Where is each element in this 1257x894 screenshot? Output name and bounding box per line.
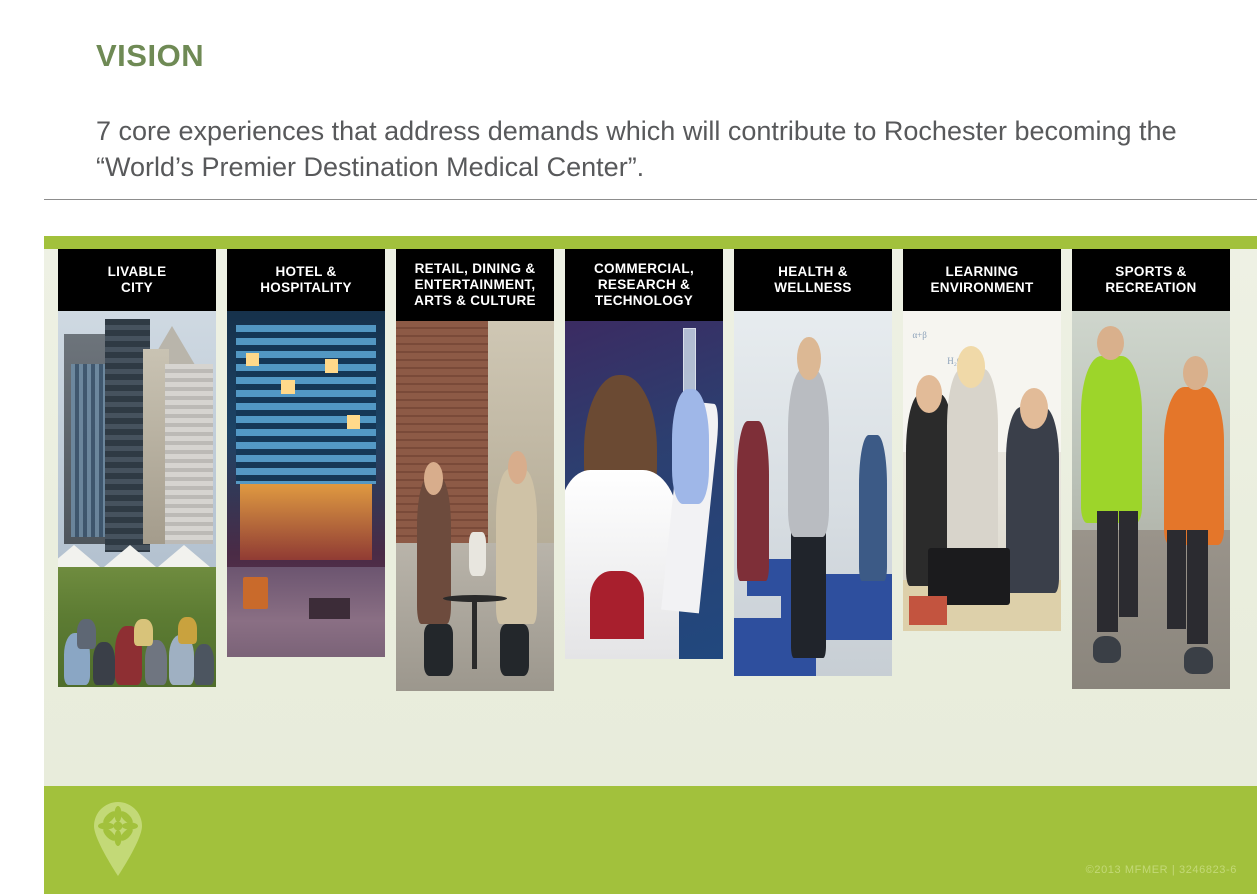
window-light [281,380,295,394]
column-photo-learning-environment: α+β H₂O [903,311,1061,631]
column-header-line2: ENTERTAINMENT, [414,277,536,293]
person-head [797,337,821,381]
running-shoe [1093,636,1121,662]
runner-head [1183,356,1208,390]
column-header-line1: HEALTH & [774,264,851,280]
column-header-livable-city: LIVABLE CITY [58,249,216,311]
tent-shape [158,545,210,567]
slide-subtitle: 7 core experiences that address demands … [96,113,1221,185]
column-photo-commercial-research [565,321,723,659]
person-shape [145,640,167,685]
person-shape [496,469,537,624]
marquee-glow [240,484,373,560]
footer-bar: ©2013 MFMER | 3246823-6 [44,786,1257,894]
column-header-line1: SPORTS & [1105,264,1196,280]
experience-column-learning-environment[interactable]: LEARNING ENVIRONMENT α+β H₂O [903,249,1061,631]
street-furniture [243,577,268,608]
column-header-learning-environment: LEARNING ENVIRONMENT [903,249,1061,311]
running-shoe [1184,647,1212,673]
copyright-credit: ©2013 MFMER | 3246823-6 [1086,864,1237,876]
column-photo-health-wellness [734,311,892,676]
person-shape [1006,407,1060,593]
person-shape [947,369,998,574]
whiteboard-scribble: α+β [912,330,926,340]
person-head [957,346,985,388]
page-title: VISION [96,38,204,74]
column-header-line1: COMMERCIAL, [594,261,694,277]
building-shape [165,364,212,544]
column-header-line3: ARTS & CULTURE [414,293,536,309]
column-photo-retail-dining [396,321,554,691]
column-header-line2: WELLNESS [774,280,851,296]
chair-shape [500,624,528,676]
column-photo-livable-city [58,311,216,687]
experiences-panel: LIVABLE CITY [44,236,1257,786]
column-header-health-wellness: HEALTH & WELLNESS [734,249,892,311]
column-header-line1: RETAIL, DINING & [414,261,536,277]
column-header-line2: CITY [108,280,167,296]
book [909,596,947,625]
window-light [325,359,338,373]
person-shape [859,435,887,581]
blue-glove [672,389,708,504]
person-shape [178,617,197,644]
experience-column-health-wellness[interactable]: HEALTH & WELLNESS [734,249,892,676]
column-header-line3: TECHNOLOGY [594,293,694,309]
column-header-line2: RECREATION [1105,280,1196,296]
runner-shape [1164,387,1224,546]
experience-column-retail-dining[interactable]: RETAIL, DINING & ENTERTAINMENT, ARTS & C… [396,249,554,691]
column-header-line1: LIVABLE [108,264,167,280]
column-header-commercial-research: COMMERCIAL, RESEARCH & TECHNOLOGY [565,249,723,321]
column-photo-hotel-hospitality [227,311,385,657]
tent-row [58,529,216,567]
tent-shape [104,545,156,567]
column-header-line1: LEARNING [930,264,1033,280]
person-shape [134,619,153,646]
person-shape [93,642,115,685]
window-light [347,415,360,429]
column-header-line1: HOTEL & [260,264,352,280]
person-shape [77,619,96,648]
table-leg [472,599,477,669]
flower-vase [469,532,486,576]
crowd-layer [58,574,216,687]
column-header-sports-recreation: SPORTS & RECREATION [1072,249,1230,311]
runner-legs [1119,511,1138,617]
runner-legs [1167,530,1186,628]
experience-column-sports-recreation[interactable]: SPORTS & RECREATION [1072,249,1230,689]
person-shape [417,476,452,624]
experience-column-livable-city[interactable]: LIVABLE CITY [58,249,216,687]
column-header-retail-dining: RETAIL, DINING & ENTERTAINMENT, ARTS & C… [396,249,554,321]
column-header-line2: RESEARCH & [594,277,694,293]
runner-shape [1081,356,1141,522]
red-collar [590,571,644,639]
map-pin-asterisk-logo [90,800,146,876]
tent-shape [58,545,100,567]
runner-legs [1187,530,1208,643]
experience-column-hotel-hospitality[interactable]: HOTEL & HOSPITALITY [227,249,385,657]
street-furniture [309,598,350,619]
column-photo-sports-recreation [1072,311,1230,689]
title-divider [44,199,1257,200]
chair-shape [424,624,452,676]
building-shape [71,364,106,537]
column-header-hotel-hospitality: HOTEL & HOSPITALITY [227,249,385,311]
person-shape [737,421,769,582]
experiences-panel-body: LIVABLE CITY [44,249,1257,786]
hotel-facade [236,325,375,484]
person-head [508,451,527,484]
runner-legs [1097,511,1118,632]
person-shape [194,644,215,685]
yoga-torso [788,369,829,537]
column-header-line2: HOSPITALITY [260,280,352,296]
column-header-line2: ENVIRONMENT [930,280,1033,296]
window-light [246,353,259,367]
experience-column-commercial-research[interactable]: COMMERCIAL, RESEARCH & TECHNOLOGY [565,249,723,659]
